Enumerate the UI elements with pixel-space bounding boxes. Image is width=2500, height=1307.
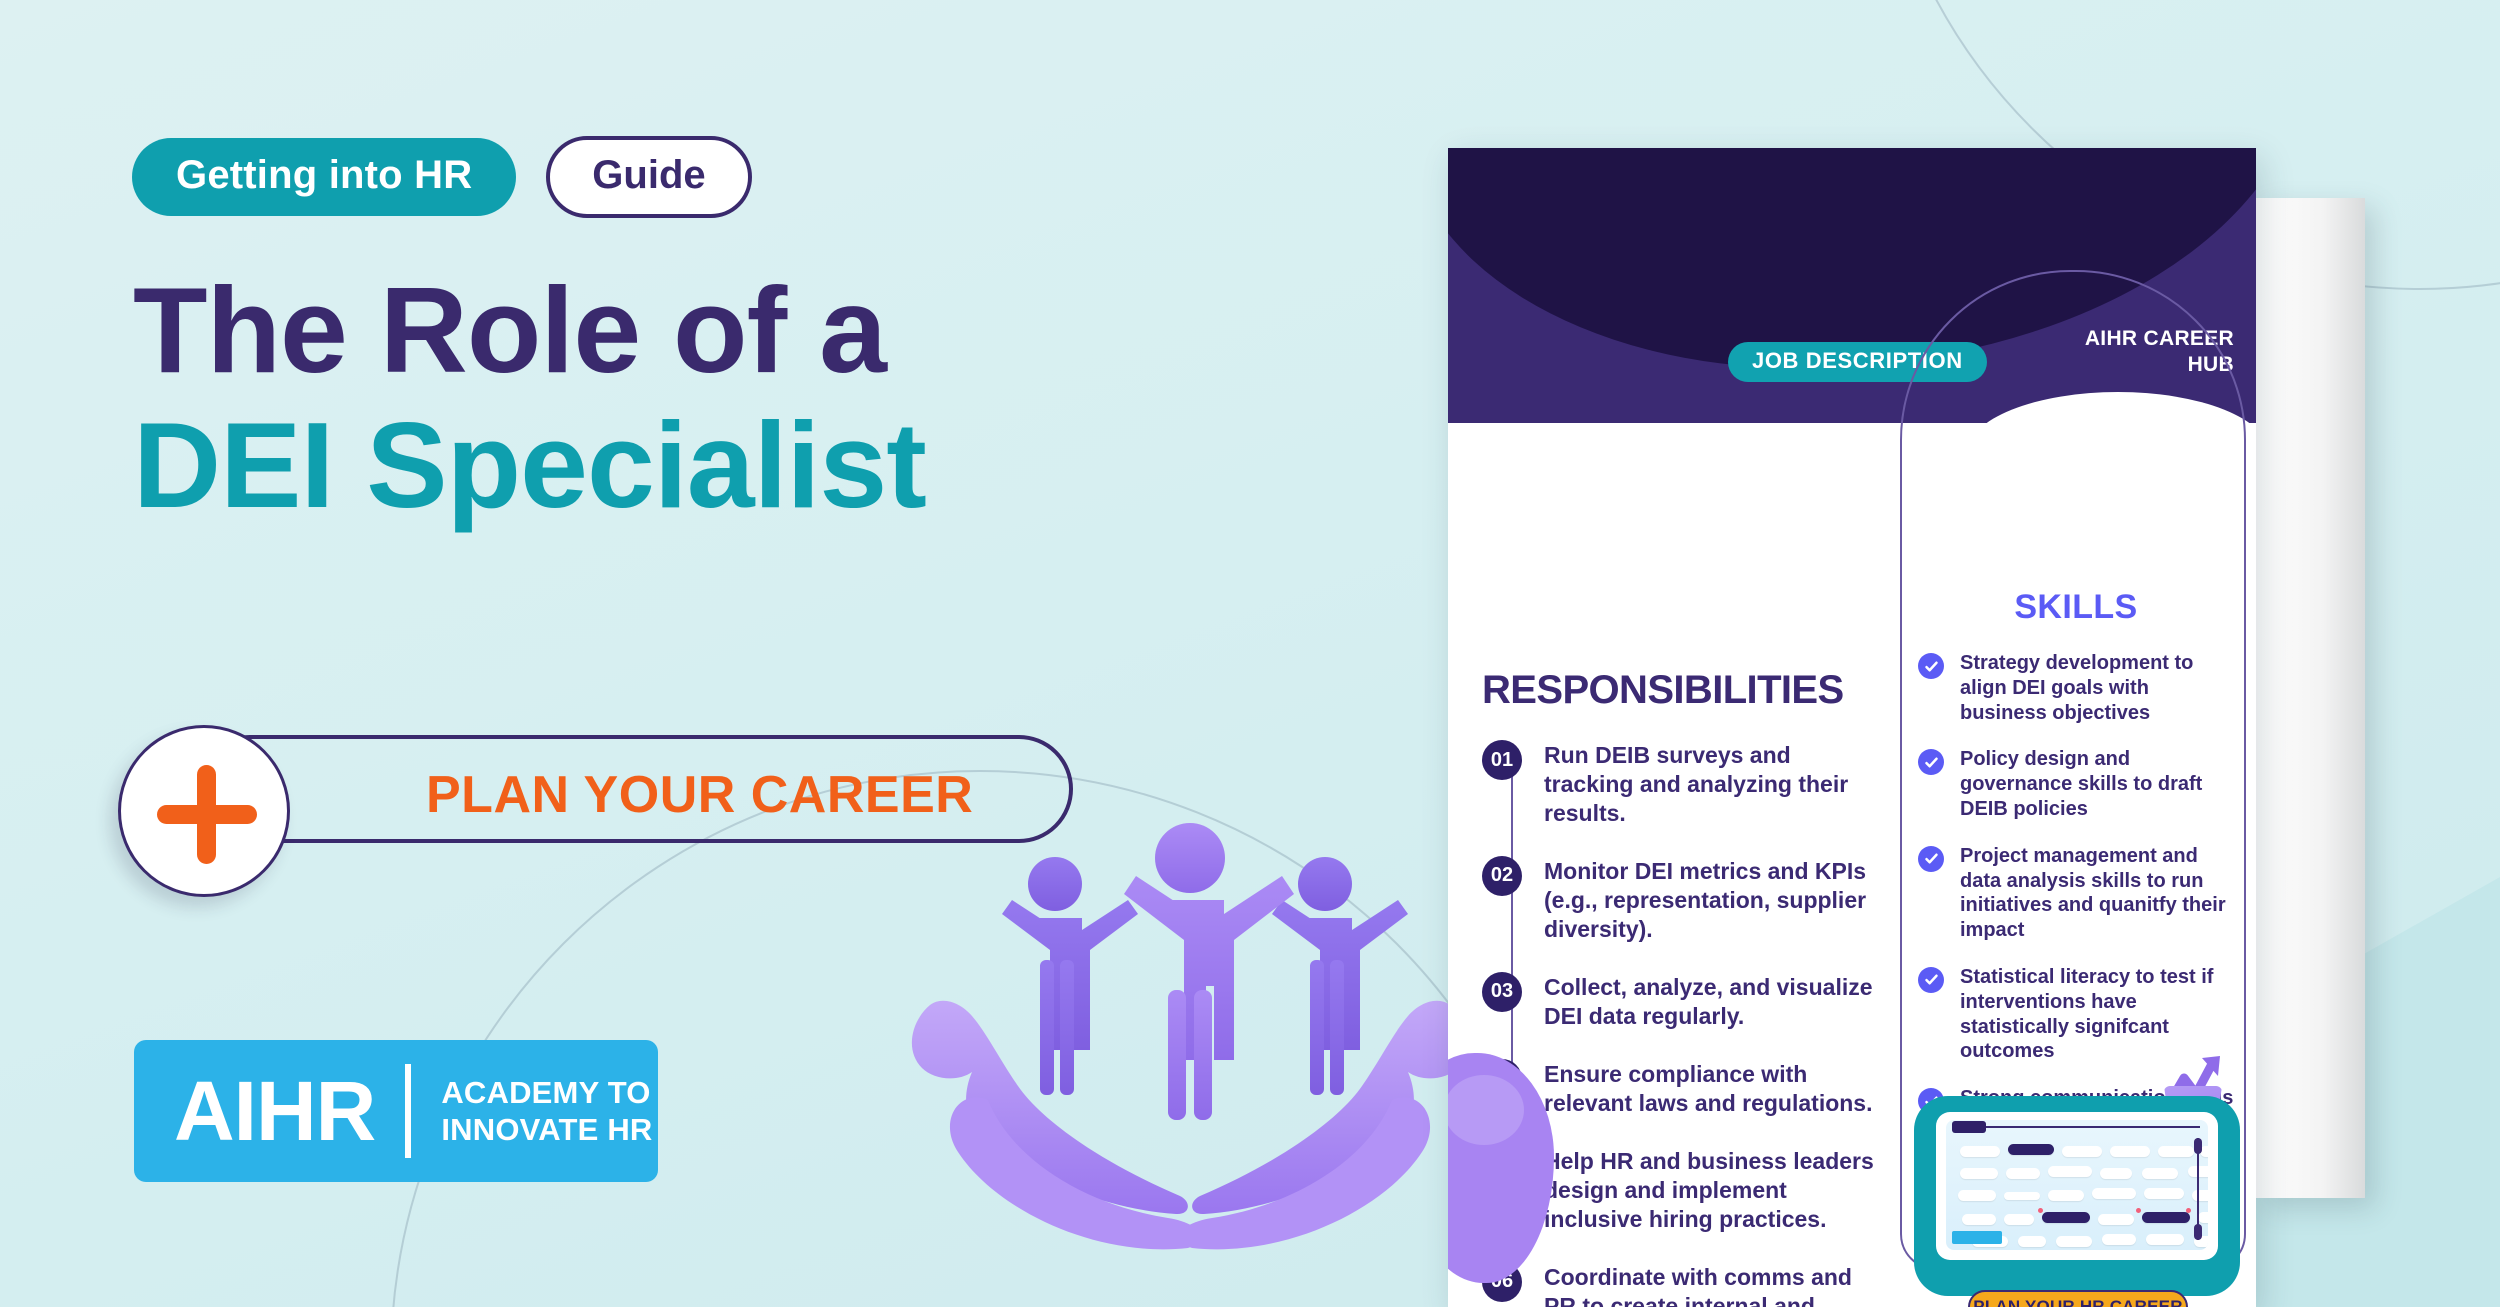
list-item: Strategy development to align DEI goals …	[1918, 651, 2234, 725]
hands-holding-figures-graphic	[900, 800, 1480, 1260]
document-back-sheet	[2255, 198, 2365, 1198]
check-icon	[1918, 653, 1944, 679]
headline-line-2: DEI Specialist	[133, 400, 1293, 532]
map-scrollbar[interactable]	[2194, 1138, 2202, 1240]
list-item: 02 Monitor DEI metrics and KPIs (e.g., r…	[1482, 856, 1882, 944]
list-item: Project management and data analysis ski…	[1918, 844, 2234, 943]
item-text: Ensure compliance with relevant laws and…	[1544, 1059, 1882, 1118]
skills-heading: SKILLS	[1918, 588, 2234, 627]
category-tag[interactable]: Getting into HR	[132, 138, 516, 216]
logo-divider	[405, 1064, 411, 1158]
type-tag[interactable]: Guide	[546, 136, 751, 218]
logo-tagline: ACADEMY TO INNOVATE HR	[441, 1074, 652, 1148]
logo-wordmark: AIHR	[174, 1069, 375, 1153]
cta-label: PLAN YOUR CAREER	[426, 769, 973, 821]
career-map-preview[interactable]: PLAN YOUR HR CAREER	[1914, 1096, 2240, 1296]
headline-line-1: The Role of a	[133, 268, 1293, 392]
item-number: 02	[1482, 856, 1522, 896]
map-top-rule	[1954, 1126, 2200, 1128]
list-item: 01 Run DEIB surveys and tracking and ana…	[1482, 740, 1882, 828]
item-number: 03	[1482, 972, 1522, 1012]
map-title-chip	[1952, 1121, 1986, 1133]
tablet-screen	[1936, 1112, 2218, 1260]
list-item: 03 Collect, analyze, and visualize DEI d…	[1482, 972, 1882, 1031]
map-aihr-logo	[1952, 1231, 2002, 1244]
skill-text: Strategy development to align DEI goals …	[1960, 651, 2234, 725]
tag-row: Getting into HR Guide	[132, 136, 752, 218]
check-icon	[1918, 749, 1944, 775]
item-text: Monitor DEI metrics and KPIs (e.g., repr…	[1544, 856, 1882, 944]
item-text: Coordinate with comms and PR to create i…	[1544, 1262, 1882, 1307]
item-text: Run DEIB surveys and tracking and analyz…	[1544, 740, 1882, 828]
plan-your-hr-career-button[interactable]: PLAN YOUR HR CAREER	[1968, 1290, 2188, 1307]
item-text: Help HR and business leaders design and …	[1544, 1146, 1882, 1234]
page-title: The Role of a DEI Specialist	[133, 268, 1293, 532]
skill-text: Project management and data analysis ski…	[1960, 844, 2234, 943]
item-text: Collect, analyze, and visualize DEI data…	[1544, 972, 1882, 1031]
item-number: 01	[1482, 740, 1522, 780]
check-icon	[1918, 846, 1944, 872]
responsibilities-heading: RESPONSIBILITIES	[1482, 670, 1882, 710]
tablet-frame	[1914, 1096, 2240, 1296]
logo-tagline-line-1: ACADEMY TO	[441, 1074, 652, 1111]
list-item: 06 Coordinate with comms and PR to creat…	[1482, 1262, 1882, 1307]
logo-tagline-line-2: INNOVATE HR	[441, 1111, 652, 1148]
aihr-logo[interactable]: AIHR ACADEMY TO INNOVATE HR	[134, 1040, 658, 1182]
job-description-card[interactable]: JOB DESCRIPTION AIHR CAREER HUB DEI Spec…	[1448, 148, 2256, 1307]
skill-text: Policy design and governance skills to d…	[1960, 747, 2234, 821]
plus-icon[interactable]	[118, 725, 290, 897]
hr-career-map-canvas	[1946, 1120, 2208, 1250]
list-item: Policy design and governance skills to d…	[1918, 747, 2234, 821]
hands-illustration	[900, 800, 1480, 1260]
check-icon	[1918, 967, 1944, 993]
